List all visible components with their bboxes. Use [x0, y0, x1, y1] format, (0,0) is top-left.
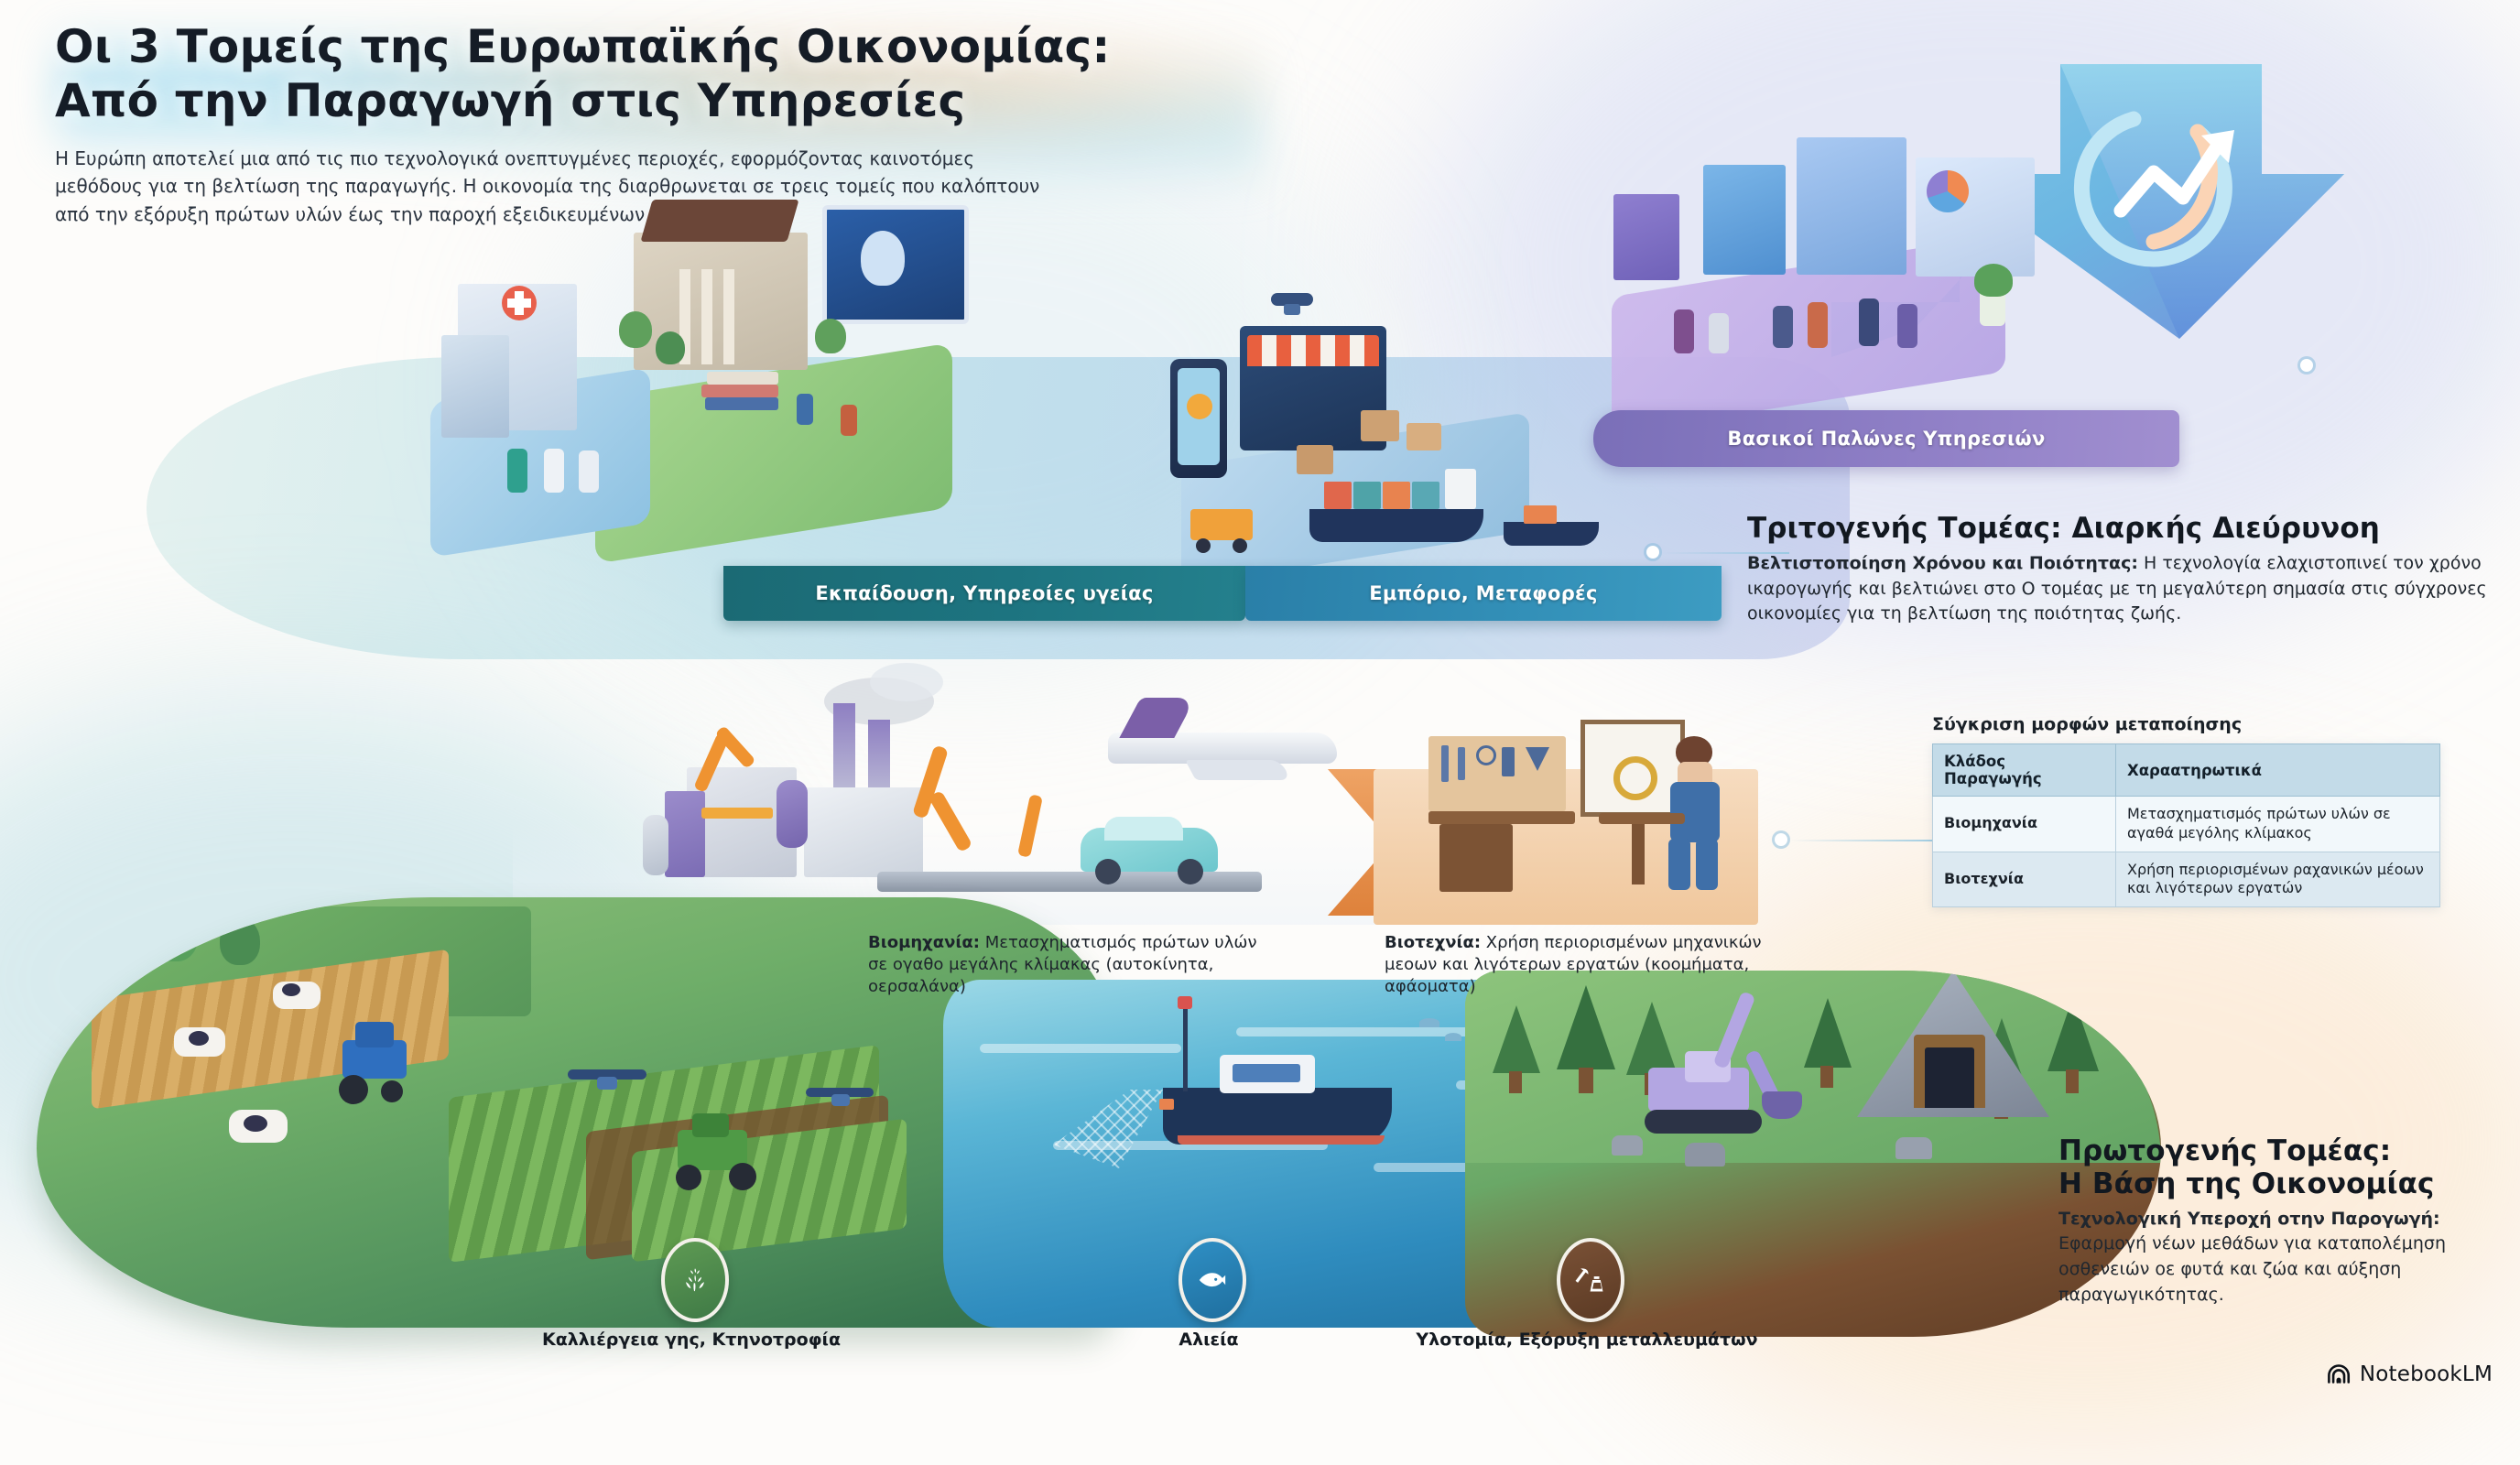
- band-service-pillars-label: Βασικοί Παλώνες Υπηρεσιών: [1593, 410, 2179, 467]
- table-row: Βιομηχανία Μετασχηματισμός πρώτων υλών σ…: [1933, 797, 2440, 852]
- craft-floor: [1374, 769, 1758, 925]
- primary-sector-title: Πρωτογενής Τομέας: Η Βάση της Οικονομίας: [2058, 1135, 2498, 1201]
- title-line-2: Από την Παραγωγή στις Υπηρεσίες: [55, 74, 1428, 128]
- primary-lead-text: Εφαρμογή νέων μεθάδων για καταπολέμηση ο…: [2058, 1233, 2446, 1304]
- notebooklm-label: NotebookLM: [2360, 1362, 2493, 1386]
- primary-sector-panel: Πρωτογενής Τομέας: Η Βάση της Οικονομίας…: [2058, 1135, 2498, 1308]
- table-row: Βιοτεχνία Χρήση περιορισμένων ραχανικών …: [1933, 852, 2440, 907]
- services-scene: [1557, 110, 2069, 412]
- craft-caption: Βιοτεχνία: Χρήση περιορισμένων μηχανικών…: [1385, 932, 1769, 998]
- tertiary-lead-bold: Βελτιστοποίηση Χρόνου και Ποιότητας:: [1747, 553, 2138, 573]
- table-header-branch: Κλάδος Παραγωγής: [1933, 744, 2116, 797]
- tertiary-sector-panel: Τριτογενής Τομέας: Διαρκής Διεύρυνοη Βελ…: [1747, 513, 2489, 627]
- process-arrow-icon: [1328, 760, 1483, 925]
- connector-node-2: [2300, 359, 2313, 372]
- table-header-characteristics: Χαραατηρωτικά: [2116, 744, 2440, 797]
- connector-node-3: [1775, 833, 1787, 846]
- drone-icon-2: [806, 1080, 877, 1113]
- title-line-1: Οι 3 Τομείς της Ευρωπαϊκής Οικονομίας:: [55, 20, 1428, 74]
- table-cell-branch-craft: Βιοτεχνία: [1933, 852, 2116, 907]
- intro-paragraph: Η Ευρώπη αποτελεί μια από τις πιο τεχνολ…: [55, 145, 1062, 228]
- connector-node-1: [1646, 546, 1659, 559]
- craft-caption-label: Βιοτεχνία:: [1385, 933, 1481, 952]
- industry-caption-label: Βιομηχανία:: [868, 933, 980, 952]
- sector-label-agriculture: Καλλιέργεια γης, Κτηνοτροφία: [542, 1329, 841, 1350]
- drone-icon-1: [568, 1062, 650, 1099]
- crops-icon: [661, 1238, 729, 1322]
- industry-ribbon: [513, 696, 1392, 925]
- table-cell-desc-craft: Χρήση περιορισμένων ραχανικών μέοων και …: [2116, 852, 2440, 907]
- commerce-transport-scene: [1163, 293, 1676, 586]
- industry-caption: Βιομηχανία: Μετασχηματισμός πρώτων υλών …: [868, 932, 1262, 998]
- sector-label-mining: Υλοτομία, Εξόρυξη μεταλλευμάτων: [1416, 1329, 1757, 1350]
- comparison-table: Κλάδος Παραγωγής Χαραατηρωτικά Βιομηχανί…: [1932, 743, 2440, 907]
- primary-lead-bold: Τεχνολογική Υπεροχή οτην Παρογωγή:: [2058, 1209, 2440, 1229]
- table-cell-branch-industry: Βιομηχανία: [1933, 797, 2116, 852]
- background-wash-green: [0, 696, 751, 1264]
- fishing-lobe: [943, 980, 1749, 1328]
- education-health-scene: [430, 174, 998, 568]
- band-service-pillars: Βασικοί Παλώνες Υπηρεσιών: [1593, 410, 2179, 467]
- primary-title-line-1: Πρωτογενής Τομέας:: [2058, 1135, 2498, 1168]
- primary-title-line-2: Η Βάση της Οικονομίας: [2058, 1168, 2498, 1201]
- sector-label-fishing: Αλιεία: [1179, 1329, 1238, 1350]
- mining-icon: [1557, 1238, 1624, 1322]
- band-commerce-transport-label: Εμπόριο, Μεταφορές: [1245, 566, 1722, 621]
- band-education-health-label: Εκπαίδουση, Υπηρεοίες υγείας: [723, 566, 1245, 621]
- connector-thread-2: [1789, 840, 1936, 841]
- growth-arrow-icon: [1831, 27, 2491, 421]
- band-commerce-transport: Εμπόριο, Μεταφορές: [1245, 566, 1722, 621]
- tertiary-sector-title: Τριτογενής Τομέας: Διαρκής Διεύρυνοη: [1747, 513, 2489, 546]
- service-ribbon-sweep: [147, 357, 1850, 659]
- band-education-health: Εκπαίδουση, Υπηρεοίες υγείας: [723, 566, 1245, 621]
- tertiary-sector-lead: Βελτιστοποίηση Χρόνου και Ποιότητας: Η τ…: [1747, 551, 2489, 627]
- table-cell-desc-industry: Μετασχηματισμός πρώτων υλών σε αγαθά μεγ…: [2116, 797, 2440, 852]
- industry-scene: [641, 678, 1428, 934]
- comparison-table-title: Σύγκριση μορφών μεταποίησης: [1932, 714, 2242, 734]
- table-header-row: Κλάδος Παραγωγής Χαραατηρωτικά: [1933, 744, 2440, 797]
- notebooklm-watermark: NotebookLM: [2326, 1362, 2493, 1386]
- craft-scene: [1401, 705, 1749, 916]
- header-block: Οι 3 Τομείς της Ευρωπαϊκής Οικονομίας: Α…: [55, 20, 1428, 228]
- primary-sector-lead: Τεχνολογική Υπεροχή οτην Παρογωγή: Εφαρμ…: [2058, 1207, 2498, 1308]
- infographic-canvas: Οι 3 Τομείς της Ευρωπαϊκής Οικονομίας: Α…: [0, 0, 2520, 1406]
- fish-icon: [1179, 1238, 1246, 1322]
- page-title: Οι 3 Τομείς της Ευρωπαϊκής Οικονομίας: Α…: [55, 20, 1428, 128]
- notebooklm-icon: [2326, 1362, 2351, 1386]
